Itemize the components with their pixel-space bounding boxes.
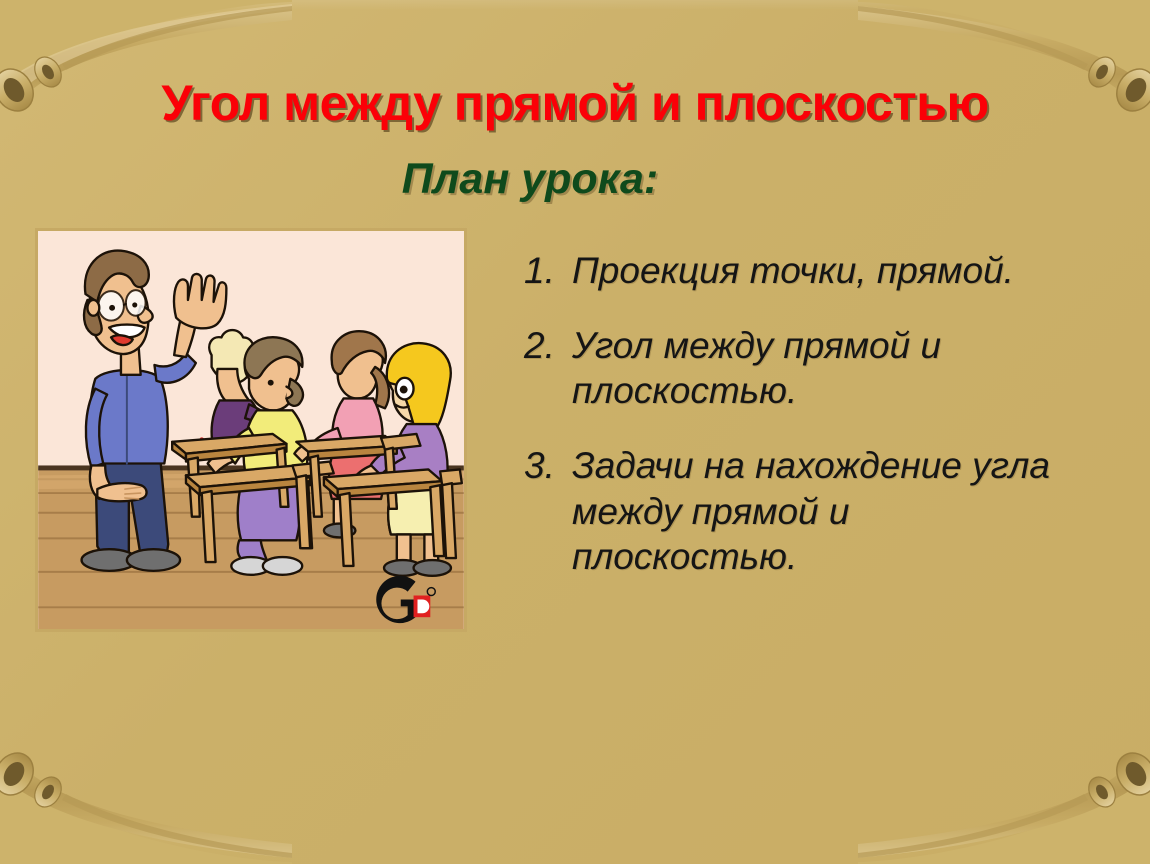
plan-item-number: 1. xyxy=(524,248,572,293)
plan-item: 1. Проекция точки, прямой. xyxy=(524,248,1084,293)
scroll-corner-bottom-right xyxy=(858,752,1150,864)
plan-item-text: Проекция точки, прямой. xyxy=(572,248,1084,293)
plan-item-number: 2. xyxy=(524,323,572,368)
slide: Угол между прямой и плоскостью План урок… xyxy=(0,0,1150,864)
slide-title: Угол между прямой и плоскостью xyxy=(0,74,1150,132)
classroom-illustration xyxy=(35,228,467,632)
plan-item: 2. Угол между прямой и плоскостью. xyxy=(524,323,1084,413)
scroll-corner-bottom-left xyxy=(0,752,292,864)
plan-item-text: Угол между прямой и плоскостью. xyxy=(572,323,1084,413)
plan-item-number: 3. xyxy=(524,443,572,488)
lesson-plan-list: 1. Проекция точки, прямой. 2. Угол между… xyxy=(524,248,1084,609)
lesson-plan-heading: План урока: xyxy=(0,155,1060,204)
plan-item-text: Задачи на нахождение угла между прямой и… xyxy=(572,443,1084,578)
plan-item: 3. Задачи на нахождение угла между прямо… xyxy=(524,443,1084,578)
